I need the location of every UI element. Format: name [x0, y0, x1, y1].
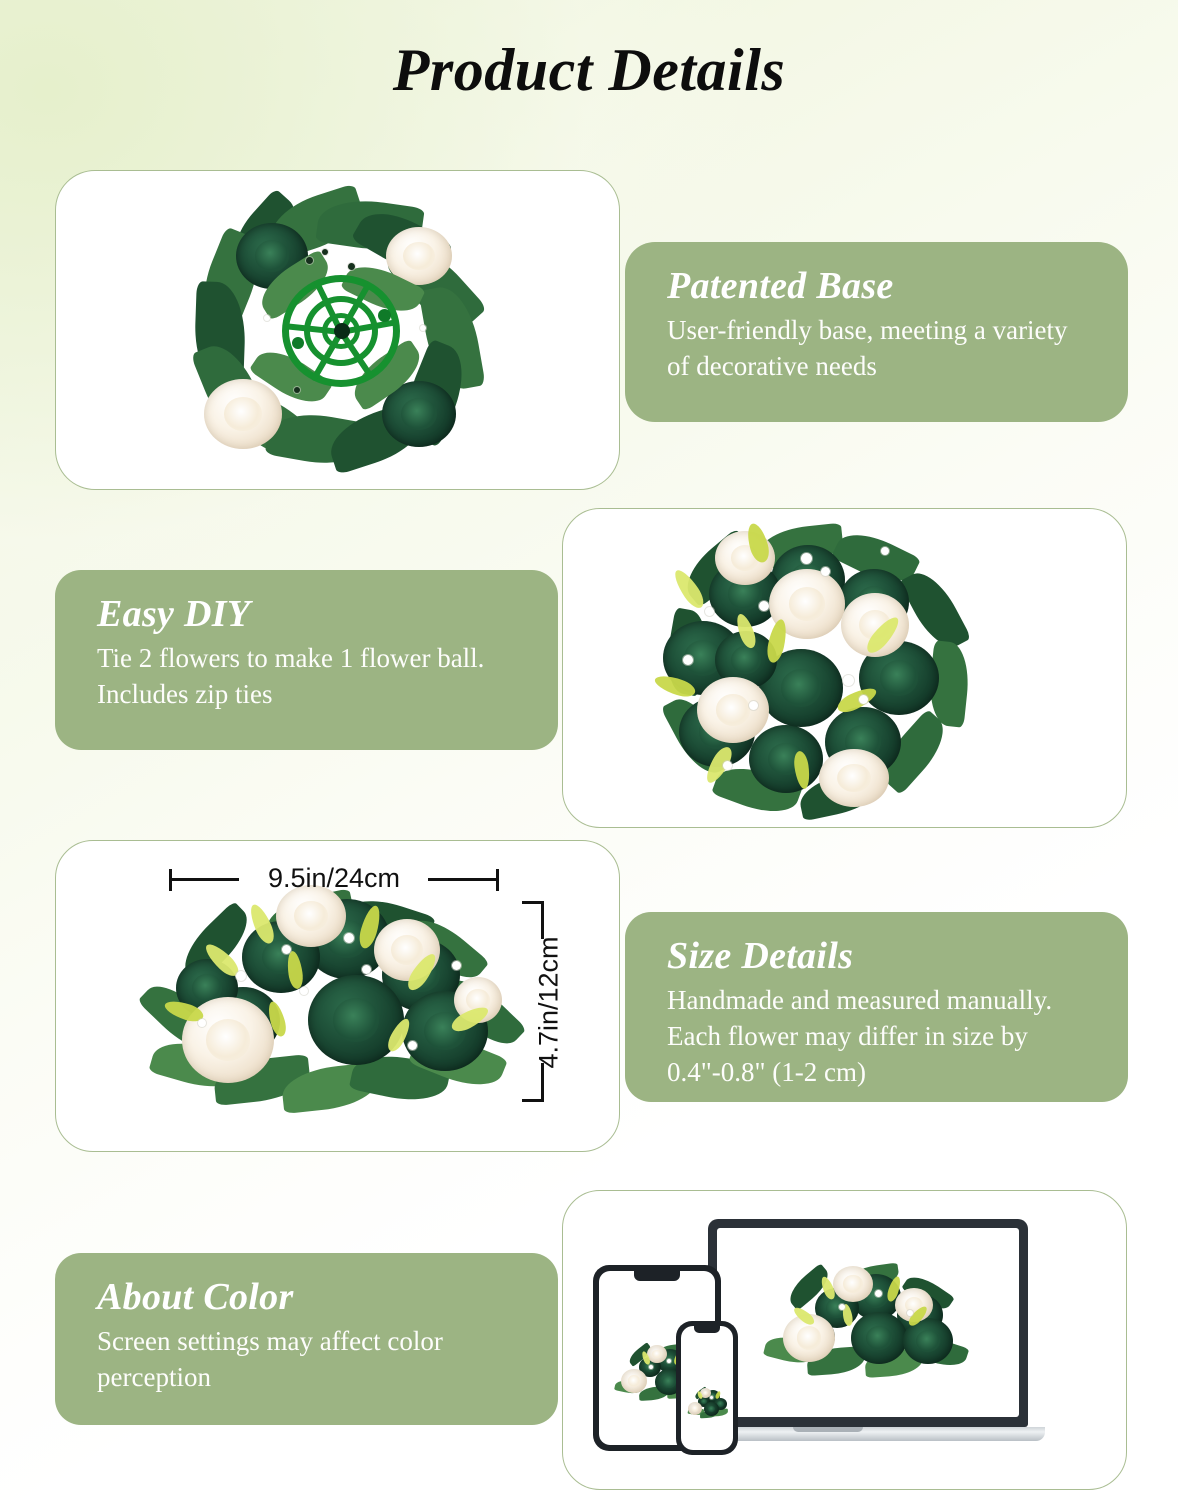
width-dimension-label: 9.5in/24cm	[241, 863, 427, 894]
feature-body: Screen settings may affect color percept…	[97, 1324, 524, 1396]
flower-arrangement-illustration: 9.5in/24cm 4.7in/12cm	[56, 841, 619, 1151]
image-card-size-details: 9.5in/24cm 4.7in/12cm	[55, 840, 620, 1152]
feature-body: Handmade and measured manually. Each flo…	[667, 983, 1094, 1091]
feature-panel-easy-diy: Easy DIY Tie 2 flowers to make 1 flower …	[55, 570, 558, 750]
feature-body: User-friendly base, meeting a variety of…	[667, 313, 1094, 385]
feature-heading: Patented Base	[667, 264, 1094, 309]
phone-device	[676, 1321, 738, 1455]
feature-panel-about-color: About Color Screen settings may affect c…	[55, 1253, 558, 1425]
height-dimension-label: 4.7in/12cm	[534, 910, 565, 1096]
device-mockup-illustration	[563, 1191, 1126, 1489]
feature-heading: About Color	[97, 1275, 524, 1320]
feature-panel-size-details: Size Details Handmade and measured manua…	[625, 912, 1128, 1102]
feature-heading: Easy DIY	[97, 592, 524, 637]
image-card-devices	[562, 1190, 1127, 1490]
image-card-flower-ball	[562, 508, 1127, 828]
product-details-page: Product Details	[0, 0, 1178, 1500]
image-card-patented-base	[55, 170, 620, 490]
feature-body: Tie 2 flowers to make 1 flower ball. Inc…	[97, 641, 524, 713]
plastic-base-assembly	[282, 275, 400, 387]
feature-panel-patented-base: Patented Base User-friendly base, meetin…	[625, 242, 1128, 422]
flower-ball-illustration	[563, 509, 1126, 827]
flower-base-illustration	[56, 171, 619, 489]
feature-heading: Size Details	[667, 934, 1094, 979]
page-title: Product Details	[0, 36, 1178, 105]
